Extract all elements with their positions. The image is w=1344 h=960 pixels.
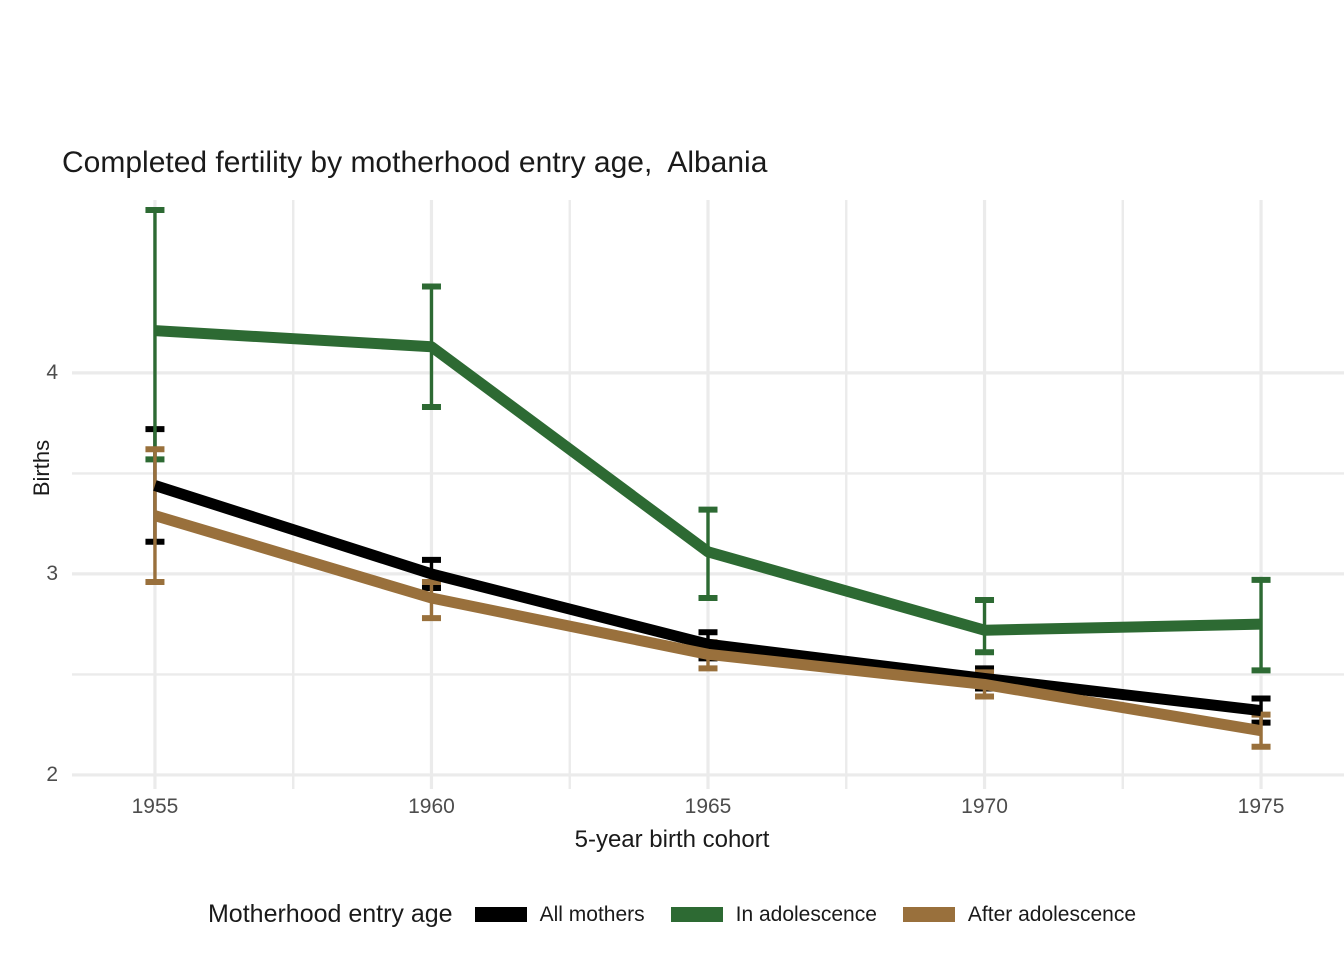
chart-title: Completed fertility by motherhood entry … — [62, 146, 767, 180]
legend-item[interactable]: In adolescence — [671, 903, 877, 927]
legend-items: All mothersIn adolescenceAfter adolescen… — [475, 903, 1136, 927]
x-tick-label: 1975 — [1201, 795, 1321, 819]
x-tick-label: 1955 — [95, 795, 215, 819]
x-tick-label: 1970 — [925, 795, 1045, 819]
legend-key-swatch — [903, 907, 955, 922]
y-tick-label: 3 — [18, 562, 58, 586]
legend-title: Motherhood entry age — [208, 900, 453, 929]
legend-item[interactable]: All mothers — [475, 903, 645, 927]
legend-key-swatch — [671, 907, 723, 922]
legend-item[interactable]: After adolescence — [903, 903, 1136, 927]
legend: Motherhood entry age All mothersIn adole… — [0, 900, 1344, 929]
x-axis-title: 5-year birth cohort — [0, 826, 1344, 854]
x-tick-label: 1965 — [648, 795, 768, 819]
y-tick-label: 2 — [18, 763, 58, 787]
y-tick-label: 4 — [18, 361, 58, 385]
chart-root: Completed fertility by motherhood entry … — [0, 0, 1344, 960]
legend-label: After adolescence — [968, 903, 1136, 927]
plot-area — [72, 200, 1344, 789]
legend-label: All mothers — [540, 903, 645, 927]
legend-label: In adolescence — [736, 903, 877, 927]
legend-key-swatch — [475, 907, 527, 922]
plot-panel — [72, 200, 1344, 789]
x-tick-label: 1960 — [371, 795, 491, 819]
y-axis-title: Births — [29, 408, 55, 528]
